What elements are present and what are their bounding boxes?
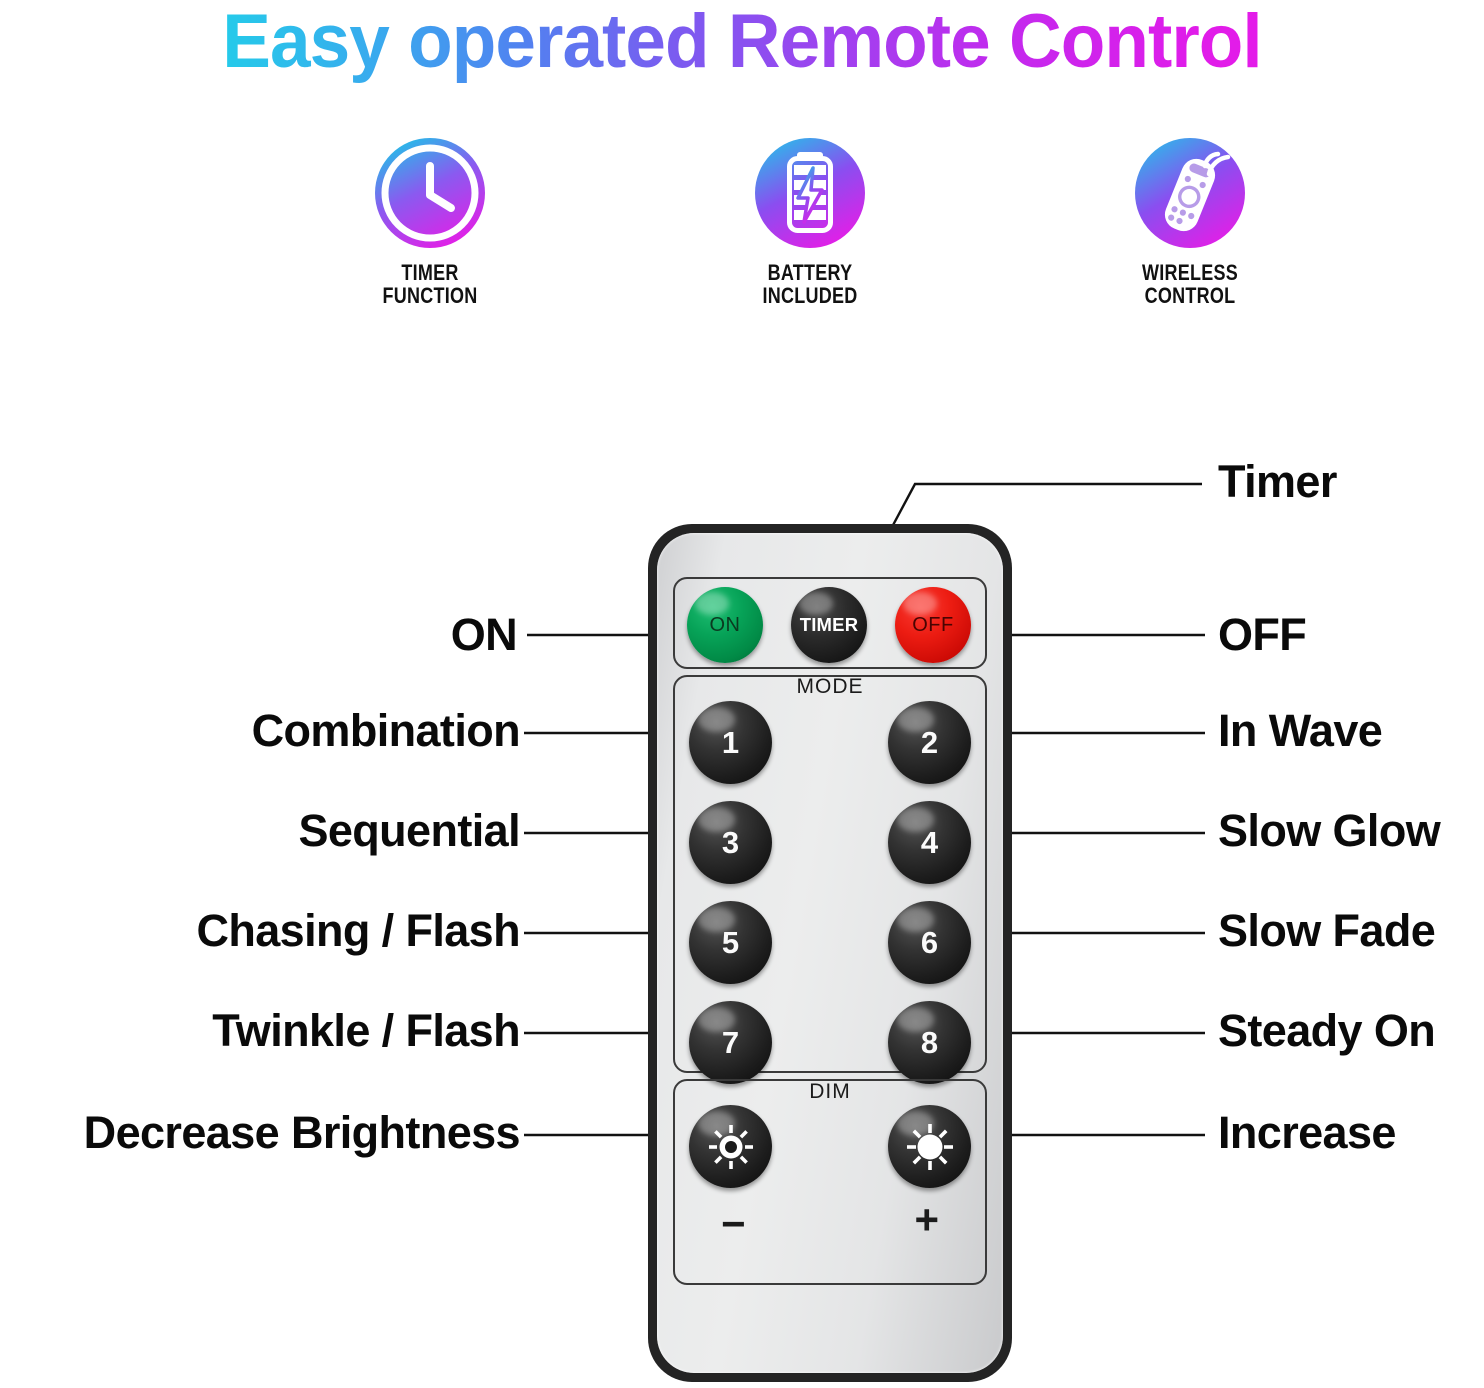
callout-slow-fade: Slow Fade [1218,908,1435,953]
dim-plus-symbol: + [914,1199,939,1241]
feature-caption-line2: INCLUDED [714,284,906,307]
timer-button-label: TIMER [800,614,859,636]
off-button-label: OFF [912,614,954,637]
mode-button-6[interactable]: 6 [888,901,971,984]
remote-signal-icon [1135,138,1245,248]
feature-battery-included: BATTERY INCLUDED [690,138,930,307]
clock-icon [375,138,485,248]
brightness-low-icon [705,1121,757,1173]
feature-caption: BATTERY INCLUDED [714,261,906,307]
dim-group-label: DIM [675,1080,985,1104]
feature-caption-line1: BATTERY [714,261,906,284]
page-title: Easy operated Remote Control [30,0,1455,86]
mode-button-2[interactable]: 2 [888,701,971,784]
remote-faceplate: ON TIMER OFF MODE 1 2 [657,533,1003,1373]
mode-button-label: 7 [722,1025,739,1061]
mode-button-label: 1 [722,725,739,761]
callout-slow-glow: Slow Glow [1218,808,1440,853]
callout-steady-on: Steady On [1218,1008,1435,1053]
brightness-high-icon [904,1121,956,1173]
mode-button-3[interactable]: 3 [689,801,772,884]
callout-sequential: Sequential [298,808,520,853]
mode-button-7[interactable]: 7 [689,1001,772,1084]
mode-button-label: 5 [722,925,739,961]
callout-increase: Increase [1218,1110,1396,1155]
feature-caption-line1: WIRELESS [1094,261,1286,284]
on-button-label: ON [710,614,741,637]
on-button[interactable]: ON [687,587,763,663]
callout-in-wave: In Wave [1218,708,1382,753]
feature-caption: TIMER FUNCTION [334,261,526,307]
mode-button-label: 8 [921,1025,938,1061]
mode-button-label: 6 [921,925,938,961]
callout-twinkle-flash: Twinkle / Flash [212,1008,520,1053]
mode-button-group: MODE 1 2 3 4 5 6 [673,675,987,1073]
dim-decrease-button[interactable] [689,1105,772,1188]
button-gloss [799,592,832,615]
mode-button-label: 3 [722,825,739,861]
power-button-group: ON TIMER OFF [673,577,987,669]
feature-wireless-control: WIRELESS CONTROL [1070,138,1310,307]
callout-decrease-brightness: Decrease Brightness [84,1110,520,1155]
mode-button-4[interactable]: 4 [888,801,971,884]
callout-timer: Timer [1218,459,1337,504]
feature-caption-line2: FUNCTION [334,284,526,307]
mode-group-label: MODE [675,675,985,699]
button-gloss [903,592,936,615]
feature-caption: WIRELESS CONTROL [1094,261,1286,307]
off-button[interactable]: OFF [895,587,971,663]
mode-button-5[interactable]: 5 [689,901,772,984]
callout-on: ON [451,612,517,657]
callout-combination: Combination [252,708,520,753]
dim-minus-symbol: − [721,1203,746,1245]
mode-button-8[interactable]: 8 [888,1001,971,1084]
mode-button-label: 2 [921,725,938,761]
mode-button-label: 4 [921,825,938,861]
callout-chasing-flash: Chasing / Flash [196,908,520,953]
remote-control-device: ON TIMER OFF MODE 1 2 [648,524,1012,1382]
feature-timer-function: TIMER FUNCTION [310,138,550,307]
timer-button[interactable]: TIMER [791,587,867,663]
feature-caption-line1: TIMER [334,261,526,284]
dim-increase-button[interactable] [888,1105,971,1188]
button-gloss [695,592,728,615]
callout-off: OFF [1218,612,1306,657]
battery-icon [755,138,865,248]
feature-caption-line2: CONTROL [1094,284,1286,307]
dim-button-group: DIM [673,1079,987,1285]
mode-button-1[interactable]: 1 [689,701,772,784]
